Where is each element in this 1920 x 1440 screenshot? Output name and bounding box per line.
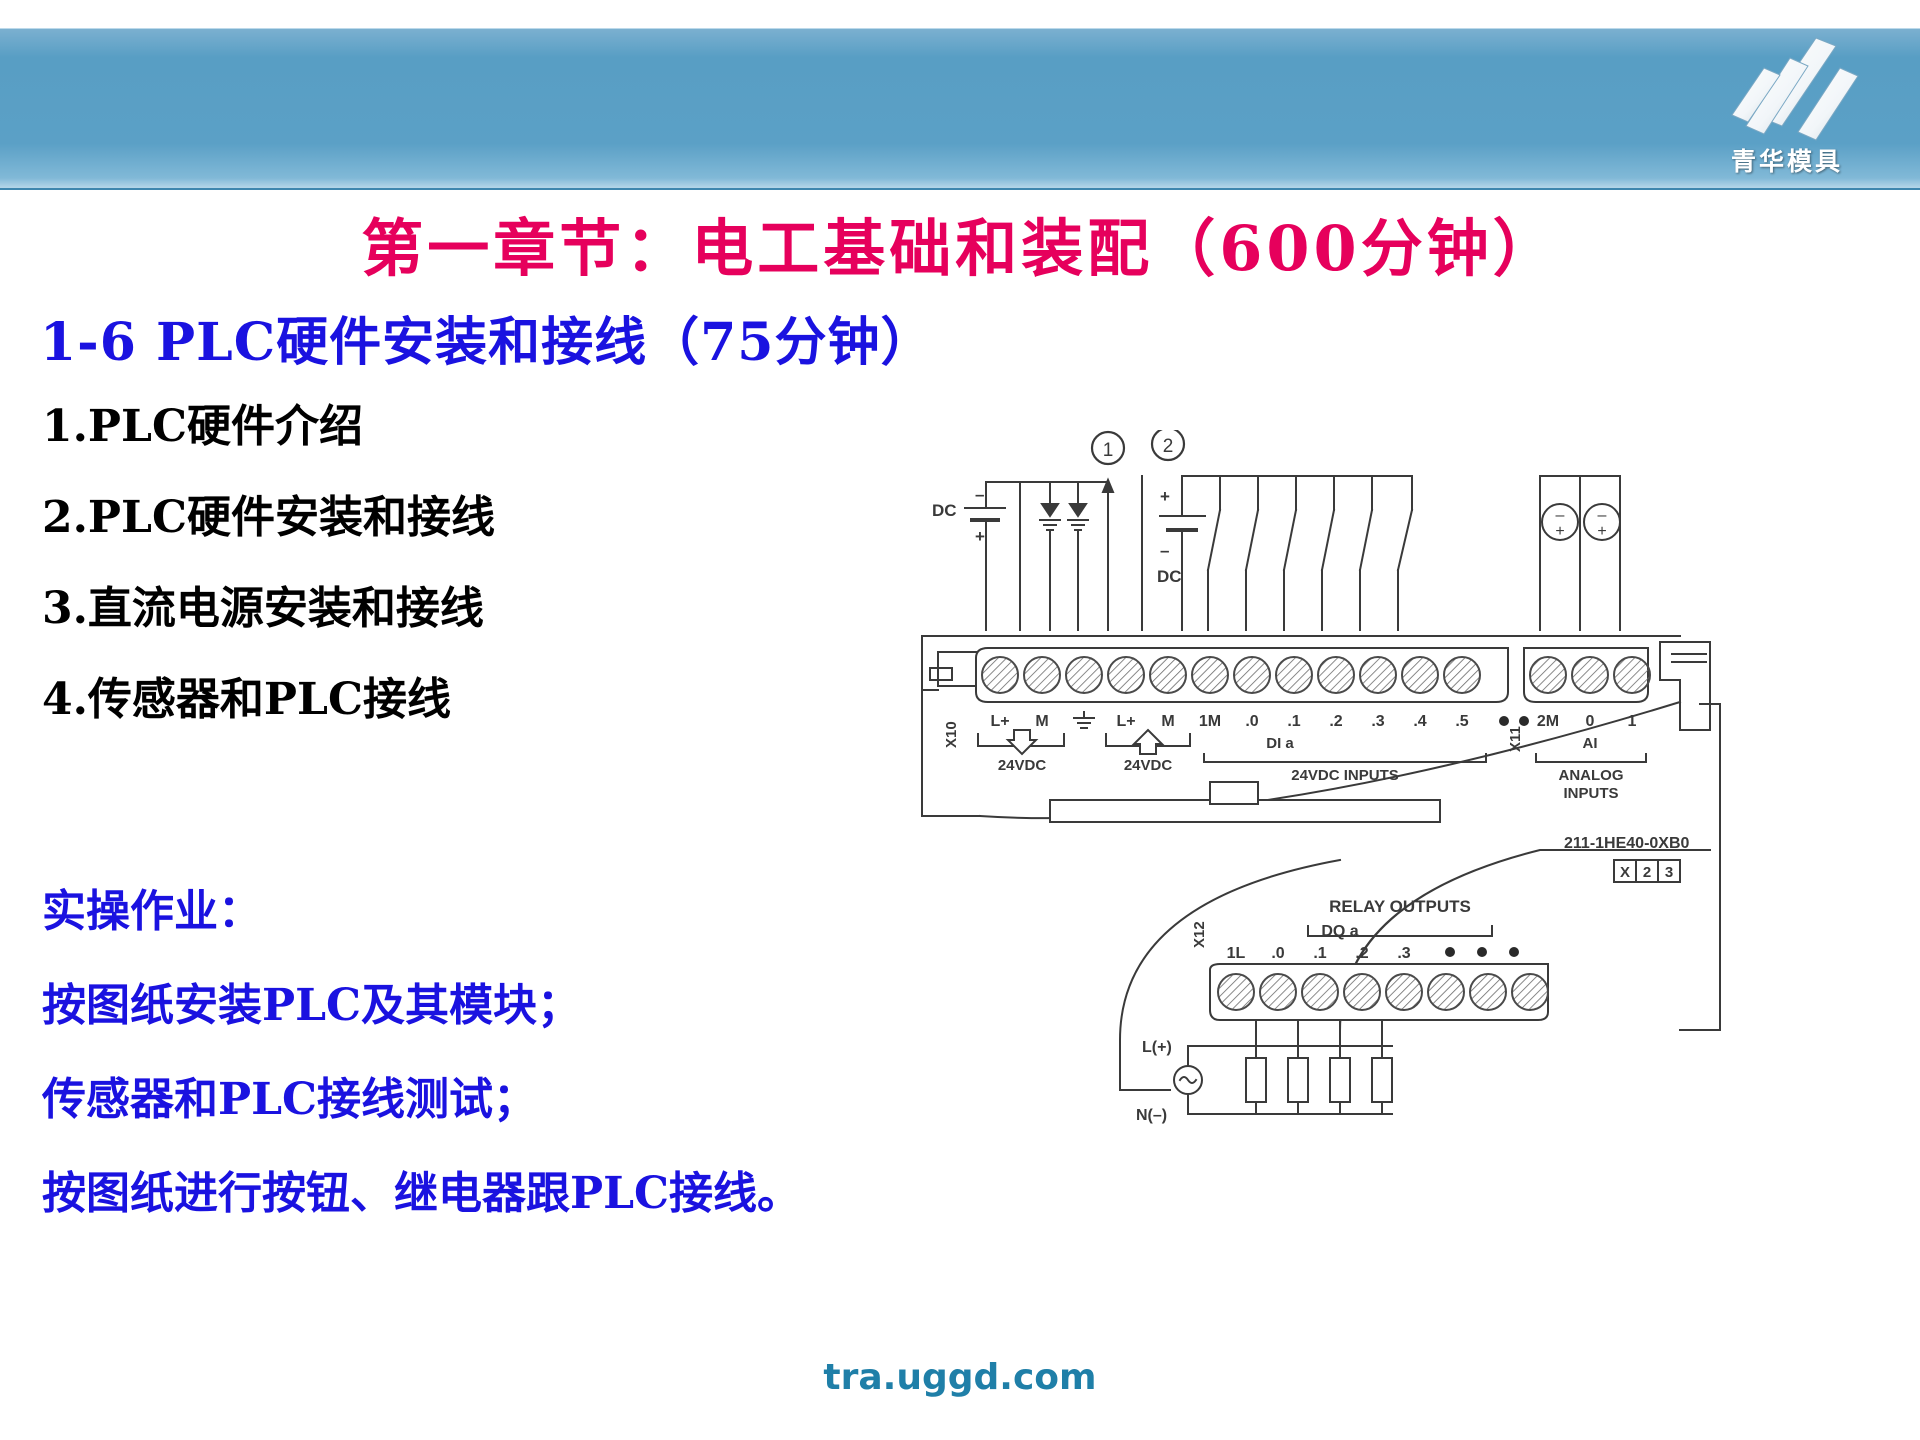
- svg-text:L(+): L(+): [1142, 1039, 1172, 1056]
- svg-text:.2: .2: [1355, 945, 1368, 962]
- svg-text:DQ a: DQ a: [1321, 923, 1358, 940]
- svg-text:.0: .0: [1271, 945, 1284, 962]
- slide-canvas: 青华模具 第一章节：电工基础和装配（600分钟） 1-6 PLC硬件安装和接线（…: [0, 0, 1920, 1440]
- svg-text:–: –: [1556, 507, 1565, 524]
- svg-text:M: M: [1035, 713, 1048, 730]
- logo-label: 青华模具: [1672, 142, 1902, 178]
- svg-text:+: +: [1160, 487, 1170, 506]
- svg-text:.0: .0: [1245, 713, 1258, 730]
- homework-item: 传感器和PLC接线测试；: [42, 1078, 982, 1122]
- svg-text:–: –: [1160, 541, 1169, 560]
- outline-list: 1.PLC硬件介绍 2.PLC硬件安装和接线 3.直流电源安装和接线 4.传感器…: [42, 405, 902, 769]
- svg-text:1L: 1L: [1227, 945, 1246, 962]
- homework-block: 实操作业： 按图纸安装PLC及其模块； 传感器和PLC接线测试； 按图纸进行按钮…: [42, 890, 982, 1266]
- homework-item: 按图纸进行按钮、继电器跟PLC接线。: [42, 1172, 982, 1216]
- chapter-title: 第一章节：电工基础和装配（600分钟）: [0, 198, 1920, 288]
- svg-text:X10: X10: [943, 721, 960, 748]
- brand-logo: 青华模具: [1672, 30, 1902, 190]
- svg-text:M: M: [1161, 713, 1174, 730]
- svg-text:24VDC INPUTS: 24VDC INPUTS: [1291, 767, 1399, 784]
- svg-text:2M: 2M: [1537, 713, 1559, 730]
- svg-text:.5: .5: [1455, 713, 1468, 730]
- svg-text:1M: 1M: [1199, 713, 1221, 730]
- homework-heading: 实操作业：: [42, 890, 982, 934]
- svg-text:INPUTS: INPUTS: [1563, 785, 1618, 802]
- svg-text:+: +: [975, 527, 985, 546]
- svg-text:ANALOG: ANALOG: [1559, 767, 1624, 784]
- svg-text:X12: X12: [1191, 921, 1208, 948]
- svg-text:2: 2: [1643, 864, 1651, 881]
- svg-text:.2: .2: [1329, 713, 1342, 730]
- svg-text:AI: AI: [1583, 735, 1598, 752]
- svg-text:L+: L+: [990, 713, 1009, 730]
- svg-text:.1: .1: [1313, 945, 1326, 962]
- logo-stripes-icon: [1712, 34, 1872, 146]
- svg-text:211-1HE40-0XB0: 211-1HE40-0XB0: [1564, 835, 1690, 852]
- banner-gloss: [0, 178, 1920, 188]
- svg-text:.3: .3: [1397, 945, 1410, 962]
- svg-text:DC: DC: [1157, 567, 1182, 586]
- list-item: 4.传感器和PLC接线: [42, 678, 902, 722]
- footer-url: tra.uggd.com: [0, 1357, 1920, 1398]
- section-title: 1-6 PLC硬件安装和接线（75分钟）: [40, 300, 933, 375]
- svg-text:RELAY OUTPUTS: RELAY OUTPUTS: [1329, 897, 1471, 916]
- svg-text:–: –: [975, 485, 984, 504]
- svg-text:.3: .3: [1371, 713, 1384, 730]
- svg-text:3: 3: [1665, 864, 1673, 881]
- svg-text:L+: L+: [1116, 713, 1135, 730]
- svg-text:X: X: [1620, 864, 1630, 881]
- header-banner: [0, 28, 1920, 190]
- svg-text:.1: .1: [1287, 713, 1300, 730]
- svg-text:–: –: [1598, 507, 1607, 524]
- svg-text:DI a: DI a: [1266, 735, 1294, 752]
- homework-item: 按图纸安装PLC及其模块；: [42, 984, 982, 1028]
- svg-text:1: 1: [1103, 440, 1114, 461]
- svg-text:DC: DC: [932, 501, 957, 520]
- list-item: 3.直流电源安装和接线: [42, 587, 902, 631]
- plc-diagram-svg: 1 2 DC – +: [920, 430, 1750, 1130]
- svg-text:2: 2: [1163, 436, 1174, 457]
- svg-text:+: +: [1555, 523, 1564, 540]
- list-item: 1.PLC硬件介绍: [42, 405, 902, 449]
- plc-wiring-diagram: 1 2 DC – +: [920, 430, 1750, 1130]
- svg-text:.4: .4: [1413, 713, 1426, 730]
- svg-text:24VDC: 24VDC: [1124, 757, 1173, 774]
- svg-text:+: +: [1597, 523, 1606, 540]
- svg-text:N(–): N(–): [1136, 1107, 1167, 1124]
- list-item: 2.PLC硬件安装和接线: [42, 496, 902, 540]
- svg-text:24VDC: 24VDC: [998, 757, 1047, 774]
